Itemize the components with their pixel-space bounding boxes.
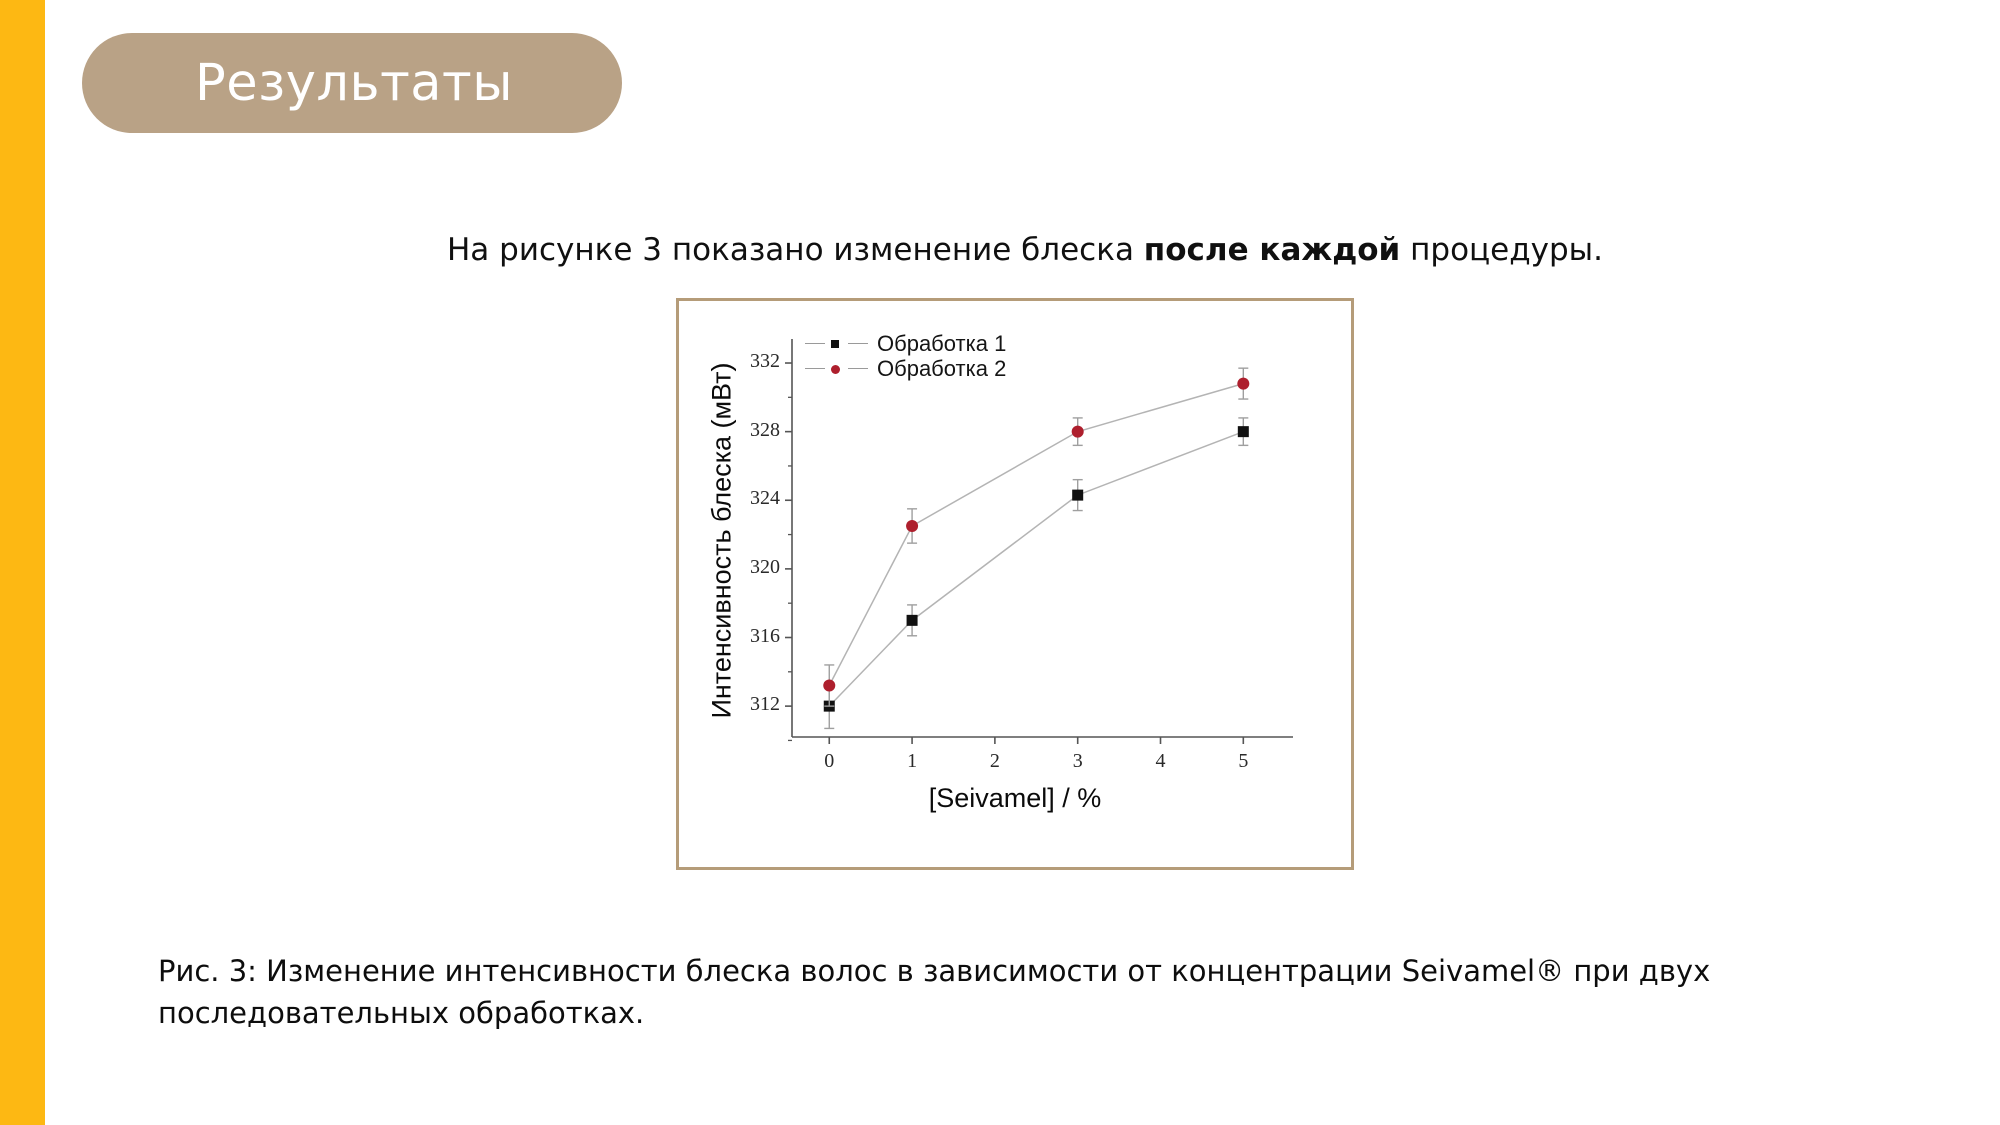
figure-caption: Рис. 3: Изменение интенсивности блеска в… — [158, 950, 1798, 1034]
figure-frame: Обработка 1 Обработка 2 3123163203243283… — [676, 298, 1354, 870]
x-axis-tick-labels: 012345 — [679, 301, 1351, 801]
intro-emphasis: после каждой — [1144, 232, 1400, 268]
chart-plot-area: Обработка 1 Обработка 2 3123163203243283… — [679, 301, 1351, 867]
intro-prefix: На рисунке 3 показано изменение блеска — [447, 232, 1144, 268]
x-tick-label: 3 — [1073, 750, 1083, 773]
x-tick-label: 1 — [907, 750, 917, 773]
y-axis-title: Интенсивность блеска (мВт) — [707, 331, 738, 751]
x-tick-label: 5 — [1238, 750, 1248, 773]
intro-suffix: процедуры. — [1400, 232, 1603, 268]
x-tick-label: 2 — [990, 750, 1000, 773]
x-tick-label: 4 — [1156, 750, 1166, 773]
x-tick-label: 0 — [824, 750, 834, 773]
slide-title-pill: Результаты — [82, 33, 622, 133]
page-title: Результаты — [195, 54, 513, 113]
intro-paragraph: На рисунке 3 показано изменение блеска п… — [447, 232, 1603, 268]
left-accent-strip — [0, 0, 45, 1125]
x-axis-title: [Seivamel] / % — [679, 783, 1351, 814]
